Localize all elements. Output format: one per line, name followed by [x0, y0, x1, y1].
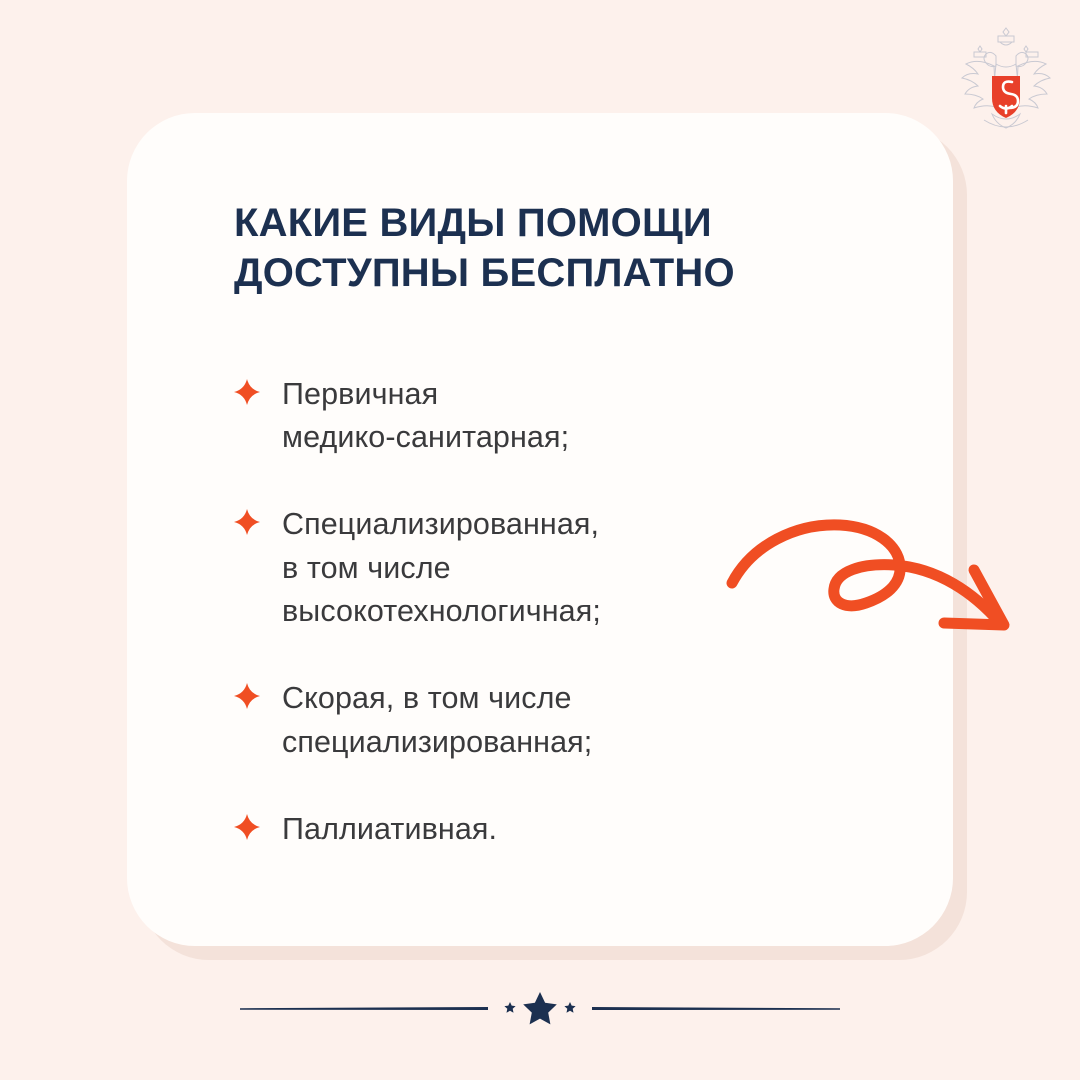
sparkle-icon: [234, 509, 260, 535]
list-item-label: Скорая, в том числе специализированная;: [282, 677, 592, 764]
list-item-label: Паллиативная.: [282, 808, 497, 851]
star-divider-ornament: [240, 985, 840, 1033]
list-item: Первичная медико-санитарная;: [234, 373, 893, 460]
card-content: КАКИЕ ВИДЫ ПОМОЩИ ДОСТУПНЫ БЕСПЛАТНО Пер…: [234, 198, 893, 851]
sparkle-icon: [234, 379, 260, 405]
list-item: Паллиативная.: [234, 808, 893, 851]
aid-types-list: Первичная медико-санитарная; Специализир…: [234, 373, 893, 851]
list-item-label: Специализированная, в том числе высокоте…: [282, 503, 601, 633]
sparkle-icon: [234, 814, 260, 840]
ministry-of-health-emblem: [952, 22, 1060, 138]
sparkle-icon: [234, 683, 260, 709]
list-item: Скорая, в том числе специализированная;: [234, 677, 893, 764]
content-card: КАКИЕ ВИДЫ ПОМОЩИ ДОСТУПНЫ БЕСПЛАТНО Пер…: [127, 113, 953, 946]
page-title: КАКИЕ ВИДЫ ПОМОЩИ ДОСТУПНЫ БЕСПЛАТНО: [234, 198, 893, 299]
list-item-label: Первичная медико-санитарная;: [282, 373, 569, 460]
list-item: Специализированная, в том числе высокоте…: [234, 503, 893, 633]
